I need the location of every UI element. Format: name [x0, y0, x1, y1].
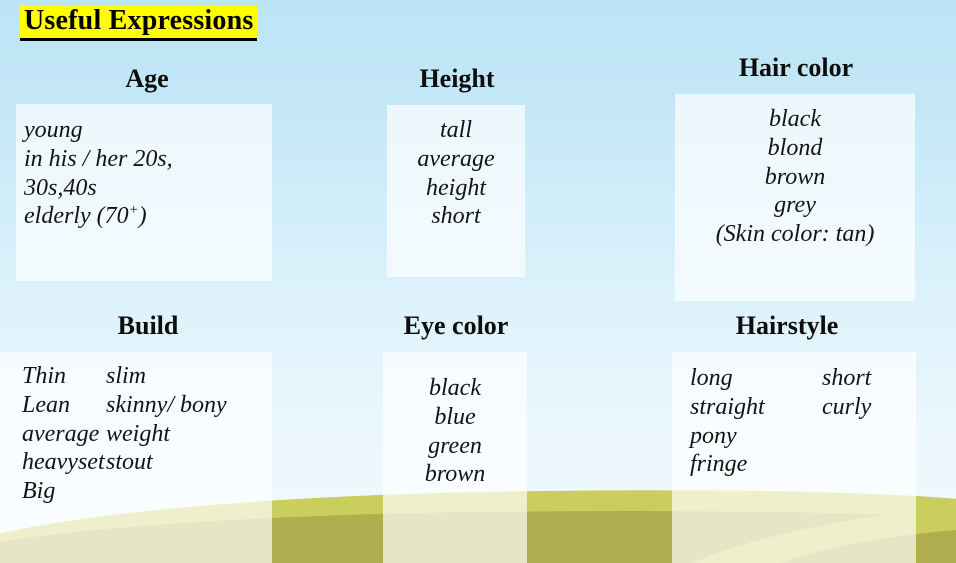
panel-eye-color: black blue green brown [383, 352, 527, 563]
group-heading-hair-color: Hair color [678, 55, 914, 81]
panel-build-row-3-col2: weight [106, 420, 170, 449]
group-heading-height: Height [384, 66, 530, 92]
panel-build-row-1: Thinslim [22, 362, 272, 391]
panel-age-line-4-suffix: ) [139, 203, 147, 229]
panel-height-line-1: tall [387, 116, 525, 145]
panel-hairstyle-row-1-col1: long [690, 364, 822, 393]
panel-build-row-3: averageweight [22, 420, 272, 449]
panel-age-line-3: 30s,40s [24, 174, 272, 203]
panel-build: Thinslim Leanskinny/ bony averageweight … [0, 352, 272, 563]
panel-eye-color-line-1: black [383, 374, 527, 403]
panel-build-row-4: heavysetstout [22, 448, 272, 477]
panel-build-row-5: Big [22, 477, 272, 506]
panel-age-line-1: young [24, 116, 272, 145]
panel-hair-color-line-1: black [675, 105, 915, 134]
group-heading-age: Age [66, 66, 228, 92]
panel-hairstyle-row-4-col1: fringe [690, 450, 822, 479]
panel-height-line-3: height [387, 174, 525, 203]
panel-hair-color-line-3: brown [675, 163, 915, 192]
panel-hairstyle-row-4: fringe [690, 450, 916, 479]
panel-build-row-1-col1: Thin [22, 362, 106, 391]
panel-build-row-3-col1: average [22, 420, 106, 449]
panel-build-row-2-col2: skinny/ bony [106, 391, 227, 420]
panel-age-line-4: elderly (70+) [24, 202, 272, 231]
panel-hairstyle-row-2-col1: straight [690, 393, 822, 422]
panel-hair-color: black blond brown grey (Skin color: tan) [675, 94, 915, 301]
panel-hair-color-line-4: grey [675, 191, 915, 220]
panel-age-line-2: in his / her 20s, [24, 145, 272, 174]
panel-hairstyle-row-3-col1: pony [690, 422, 822, 451]
panel-hair-color-line-5: (Skin color: tan) [675, 220, 915, 249]
panel-build-row-2: Leanskinny/ bony [22, 391, 272, 420]
panel-hairstyle-row-1: longshort [690, 364, 916, 393]
panel-build-row-5-col1: Big [22, 477, 106, 506]
panel-age-line-4-superscript: + [129, 202, 139, 218]
panel-hairstyle-row-1-col2: short [822, 364, 871, 393]
panel-hair-color-line-2: blond [675, 134, 915, 163]
panel-height-line-4: short [387, 202, 525, 231]
panel-hairstyle-row-2: straightcurly [690, 393, 916, 422]
panel-hairstyle-row-3: pony [690, 422, 916, 451]
slide-title-container: Useful Expressions [20, 5, 257, 41]
panel-eye-color-line-3: green [383, 432, 527, 461]
panel-build-row-1-col2: slim [106, 362, 146, 391]
group-heading-hairstyle: Hairstyle [672, 313, 902, 339]
panel-hairstyle: longshort straightcurly pony fringe [672, 352, 916, 563]
group-heading-build: Build [66, 313, 230, 339]
panel-eye-color-line-2: blue [383, 403, 527, 432]
slide-title: Useful Expressions [20, 5, 257, 41]
panel-hairstyle-row-2-col2: curly [822, 393, 871, 422]
panel-build-row-4-col2: stout [106, 448, 153, 477]
group-heading-eye-color: Eye color [378, 313, 534, 339]
panel-eye-color-line-4: brown [383, 460, 527, 489]
panel-height: tall average height short [387, 105, 525, 277]
panel-age: young in his / her 20s, 30s,40s elderly … [16, 104, 272, 281]
slide-canvas: Useful Expressions Age young in his / he… [0, 0, 956, 563]
panel-build-row-4-col1: heavyset [22, 448, 106, 477]
panel-build-row-2-col1: Lean [22, 391, 106, 420]
panel-height-line-2: average [387, 145, 525, 174]
panel-age-line-4-prefix: elderly (70 [24, 203, 129, 229]
